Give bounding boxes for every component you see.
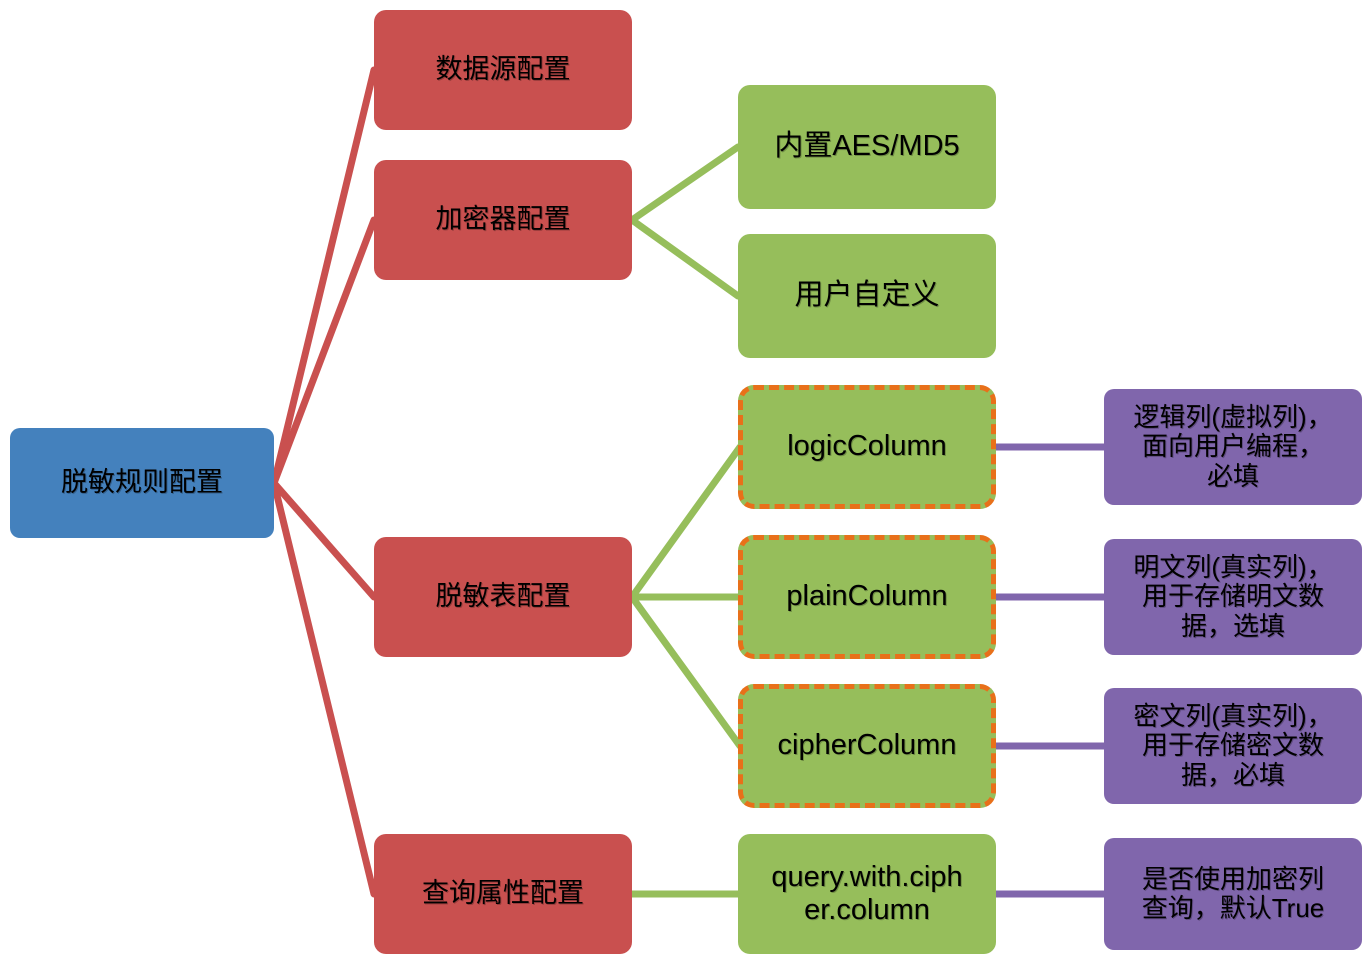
node-branch-datasource-label: 数据源配置 [382, 54, 624, 85]
note-plaincolumn[interactable]: 明文列(真实列)， 用于存储明文数 据，选填 [1104, 539, 1362, 655]
node-leaf-ciphercolumn[interactable]: cipherColumn [738, 684, 996, 808]
node-leaf-logiccolumn-label: logicColumn [751, 430, 983, 463]
node-leaf-builtin-label: 内置AES/MD5 [746, 130, 988, 163]
mindmap-diagram: 脱敏规则配置 数据源配置 加密器配置 脱敏表配置 查询属性配置 内置AES/MD… [0, 0, 1370, 966]
note-query-with-cipher-column[interactable]: 是否使用加密列 查询，默认True [1104, 838, 1362, 950]
note-ciphercolumn[interactable]: 密文列(真实列)， 用于存储密文数 据，必填 [1104, 688, 1362, 804]
node-leaf-logiccolumn[interactable]: logicColumn [738, 385, 996, 509]
node-leaf-query-with-cipher-column[interactable]: query.with.ciph er.column [738, 834, 996, 954]
node-root-masking-rule-config[interactable]: 脱敏规则配置 [10, 428, 274, 538]
node-leaf-ciphercolumn-label: cipherColumn [751, 729, 983, 762]
edge-root-to-queryprop [274, 483, 374, 894]
node-leaf-plaincolumn-label: plainColumn [751, 580, 983, 613]
node-branch-masktable-label: 脱敏表配置 [382, 581, 624, 612]
node-branch-masktable-config[interactable]: 脱敏表配置 [374, 537, 632, 657]
node-leaf-user-custom[interactable]: 用户自定义 [738, 234, 996, 358]
node-leaf-custom-label: 用户自定义 [746, 279, 988, 312]
node-branch-encryptor-label: 加密器配置 [382, 204, 624, 235]
node-root-label: 脱敏规则配置 [18, 467, 266, 498]
note-logiccolumn-label: 逻辑列(虚拟列)， 面向用户编程， 必填 [1112, 403, 1354, 490]
edge-masktable-to-logiccolumn [632, 447, 740, 597]
node-leaf-builtin-aes-md5[interactable]: 内置AES/MD5 [738, 85, 996, 209]
node-branch-queryprop-config[interactable]: 查询属性配置 [374, 834, 632, 954]
edge-masktable-to-ciphercolumn [632, 597, 740, 746]
edge-root-to-datasource [274, 70, 374, 483]
node-branch-queryprop-label: 查询属性配置 [382, 878, 624, 909]
node-branch-encryptor-config[interactable]: 加密器配置 [374, 160, 632, 280]
edge-root-to-masktable [274, 483, 374, 597]
node-leaf-querywithcipher-label: query.with.ciph er.column [746, 861, 988, 928]
note-plaincolumn-label: 明文列(真实列)， 用于存储明文数 据，选填 [1112, 553, 1354, 640]
edge-encryptor-to-custom [632, 220, 738, 296]
edge-encryptor-to-builtin [632, 147, 738, 220]
note-ciphercolumn-label: 密文列(真实列)， 用于存储密文数 据，必填 [1112, 702, 1354, 789]
note-querywithcipher-label: 是否使用加密列 查询，默认True [1112, 865, 1354, 923]
edge-root-to-encryptor [274, 220, 374, 483]
node-branch-datasource-config[interactable]: 数据源配置 [374, 10, 632, 130]
note-logiccolumn[interactable]: 逻辑列(虚拟列)， 面向用户编程， 必填 [1104, 389, 1362, 505]
node-leaf-plaincolumn[interactable]: plainColumn [738, 535, 996, 659]
